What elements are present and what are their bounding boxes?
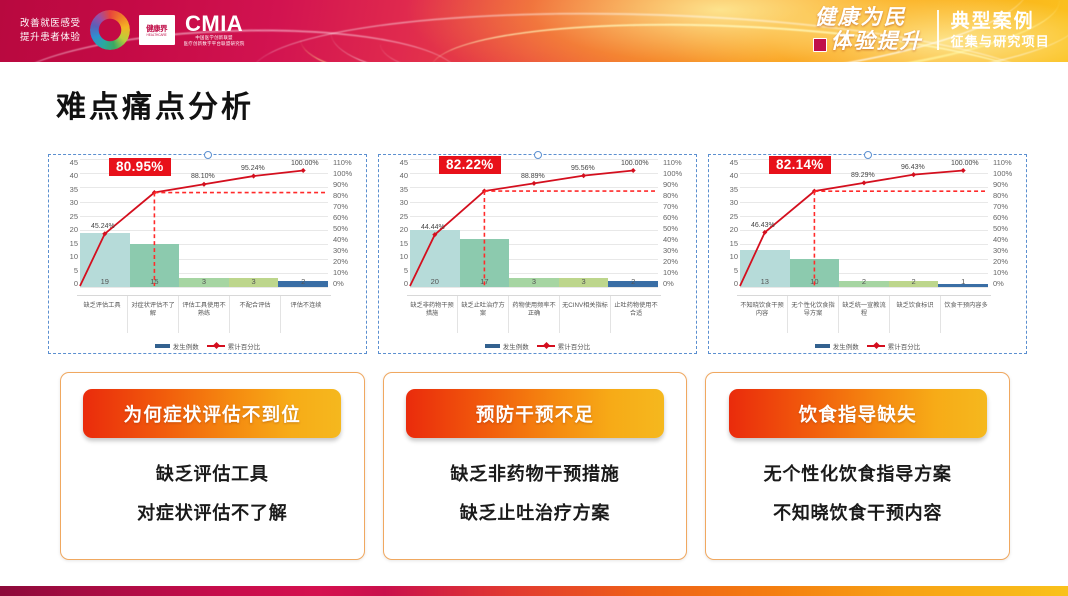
- pareto-chart-3[interactable]: 454035302520151050110%100%90%80%70%60%50…: [708, 154, 1027, 354]
- card-body-line: 缺乏评估工具: [156, 460, 269, 486]
- x-axis-tick-label: 缺乏非药物干预措施: [407, 296, 458, 333]
- y-axis-right-tick: 80%: [333, 192, 348, 199]
- y-axis-left-tick: 40: [730, 172, 738, 179]
- y-axis-left-tick: 25: [70, 213, 78, 220]
- y-axis-left-tick: 30: [730, 199, 738, 206]
- y-axis-right-tick: 30%: [663, 247, 678, 254]
- legend-label: 累计百分比: [228, 341, 261, 351]
- legend-item[interactable]: 累计百分比: [867, 341, 921, 351]
- pareto-threshold-callout: 80.95%: [109, 158, 171, 176]
- legend-line-swatch-icon: [867, 342, 885, 350]
- summary-card-row: 为何症状评估不到位缺乏评估工具对症状评估不了解预防干预不足缺乏非药物干预措施缺乏…: [60, 372, 1010, 560]
- y-axis-right-tick: 40%: [993, 236, 1008, 243]
- cumulative-point-label: 88.10%: [191, 173, 215, 180]
- y-axis-left-tick: 40: [70, 172, 78, 179]
- x-axis-tick-label: 不知晓饮食干预内容: [737, 296, 788, 333]
- y-axis-right-tick: 70%: [663, 203, 678, 210]
- x-axis-tick-label: 缺乏饮食标识: [890, 296, 941, 333]
- card-body-line: 对症状评估不了解: [137, 499, 287, 525]
- y-axis-left-tick: 15: [730, 240, 738, 247]
- pareto-threshold-callout: 82.22%: [439, 156, 501, 174]
- y-axis-right-tick: 10%: [993, 269, 1008, 276]
- y-axis-right: 110%100%90%80%70%60%50%40%30%20%10%0%: [990, 159, 1022, 287]
- rotate-handle-icon[interactable]: [204, 151, 212, 159]
- y-axis-left-tick: 20: [70, 226, 78, 233]
- cumulative-point-label: 46.43%: [751, 222, 775, 229]
- y-axis-right-tick: 20%: [663, 258, 678, 265]
- x-axis: 缺乏非药物干预措施缺乏止吐治疗方案药物使用频率不正确无CINV相关指标止吐药物使…: [407, 295, 661, 333]
- project-line-1: 典型案例: [951, 11, 1050, 32]
- legend-line-swatch-icon: [537, 342, 555, 350]
- y-axis-left-tick: 15: [70, 240, 78, 247]
- chc-logo-line-1: CHINESE: [102, 23, 118, 27]
- legend-line-swatch-icon: [207, 342, 225, 350]
- x-axis-tick-label: 不配合评估: [230, 296, 281, 333]
- y-axis-left-tick: 0: [404, 280, 408, 287]
- y-axis-right-tick: 0%: [333, 280, 344, 287]
- y-axis-right-tick: 60%: [333, 214, 348, 221]
- legend-item[interactable]: 累计百分比: [207, 341, 261, 351]
- brand-calligraphy: 健康为民 体验提升: [815, 6, 925, 53]
- brand-line-2: 体验提升: [815, 30, 923, 53]
- card-title-pill: 预防干预不足: [406, 389, 664, 438]
- cumulative-point-label: 44.44%: [421, 224, 445, 231]
- slide: 改善就医感受 提升患者体验 CHINESE HOSPITAL CONTEST 健…: [0, 0, 1068, 596]
- legend-item[interactable]: 累计百分比: [537, 341, 591, 351]
- card-title-pill: 为何症状评估不到位: [83, 389, 341, 438]
- y-axis-right-tick: 10%: [663, 269, 678, 276]
- x-axis-tick-label: 止吐药物使用不合适: [611, 296, 661, 333]
- cmia-logo-icon: CMIA 中国医学创新联盟 医疗创新数字平台联盟研究院: [184, 13, 245, 47]
- chart-legend: 发生例数累计百分比: [49, 341, 366, 351]
- y-axis-right-tick: 0%: [663, 280, 674, 287]
- y-axis-right-tick: 50%: [333, 225, 348, 232]
- chart-plot-area: 454035302520151050110%100%90%80%70%60%50…: [52, 159, 363, 299]
- y-axis-left-tick: 25: [400, 213, 408, 220]
- y-axis-right-tick: 0%: [993, 280, 1004, 287]
- y-axis-right-tick: 60%: [993, 214, 1008, 221]
- card-body: 缺乏非药物干预措施缺乏止吐治疗方案: [450, 460, 619, 525]
- y-axis-left-tick: 45: [400, 159, 408, 166]
- y-axis-left-tick: 30: [400, 199, 408, 206]
- slogan-line-2: 提升患者体验: [20, 32, 81, 43]
- card-body-line: 缺乏非药物干预措施: [450, 460, 619, 486]
- y-axis-left-tick: 25: [730, 213, 738, 220]
- rotate-handle-icon[interactable]: [534, 151, 542, 159]
- cumulative-point-label: 95.56%: [571, 165, 595, 172]
- x-axis: 不知晓饮食干预内容无个性化饮食指导方案缺乏统一宣教流程缺乏饮食标识饮食干预内容多: [737, 295, 991, 333]
- summary-card-1[interactable]: 为何症状评估不到位缺乏评估工具对症状评估不了解: [60, 372, 365, 560]
- y-axis-right-tick: 30%: [333, 247, 348, 254]
- y-axis-right-tick: 90%: [333, 181, 348, 188]
- y-axis-right-tick: 30%: [993, 247, 1008, 254]
- chc-logo-line-2: HOSPITAL: [101, 28, 118, 32]
- y-axis-right-tick: 70%: [333, 203, 348, 210]
- summary-card-3[interactable]: 饮食指导缺失无个性化饮食指导方案不知晓饮食干预内容: [705, 372, 1010, 560]
- header-brand-group: 健康为民 体验提升 典型案例 征集与研究项目: [815, 6, 1050, 53]
- y-axis-left-tick: 10: [400, 253, 408, 260]
- pareto-chart-1[interactable]: 454035302520151050110%100%90%80%70%60%50…: [48, 154, 367, 354]
- cmia-logo-subtext-2: 医疗创新数字平台联盟研究院: [184, 41, 245, 47]
- chart-plot-area: 454035302520151050110%100%90%80%70%60%50…: [382, 159, 693, 299]
- y-axis-left-tick: 0: [734, 280, 738, 287]
- x-axis-tick-label: 对症状评估不了解: [128, 296, 179, 333]
- card-title-text: 预防干预不足: [476, 401, 594, 427]
- slide-header-banner: 改善就医感受 提升患者体验 CHINESE HOSPITAL CONTEST 健…: [0, 0, 1068, 62]
- y-axis-left-tick: 10: [730, 253, 738, 260]
- pareto-threshold-callout: 82.14%: [769, 156, 831, 174]
- y-axis-left-tick: 45: [730, 159, 738, 166]
- x-axis-tick-label: 药物使用频率不正确: [509, 296, 560, 333]
- y-axis-left: 454035302520151050: [714, 159, 738, 287]
- card-title-pill: 饮食指导缺失: [729, 389, 987, 438]
- y-axis-right-tick: 20%: [993, 258, 1008, 265]
- y-axis-right-tick: 110%: [333, 159, 352, 166]
- x-axis-tick-label: 无个性化饮食指导方案: [788, 296, 839, 333]
- header-logo-group: 改善就医感受 提升患者体验 CHINESE HOSPITAL CONTEST 健…: [20, 10, 245, 50]
- y-axis-left-tick: 20: [730, 226, 738, 233]
- y-axis-left-tick: 45: [70, 159, 78, 166]
- y-axis-right-tick: 80%: [663, 192, 678, 199]
- y-axis-left-tick: 0: [74, 280, 78, 287]
- brand-line-1: 健康为民: [815, 6, 923, 29]
- legend-label: 发生例数: [173, 341, 199, 351]
- y-axis-right-tick: 10%: [333, 269, 348, 276]
- legend-item[interactable]: 发生例数: [155, 341, 199, 351]
- cmia-logo-text: CMIA: [185, 13, 243, 35]
- y-axis-left-tick: 40: [400, 172, 408, 179]
- cumulative-point-label: 96.43%: [901, 164, 925, 171]
- x-axis-tick-label: 缺乏评估工具: [77, 296, 128, 333]
- x-axis-tick-label: 缺乏止吐治疗方案: [458, 296, 509, 333]
- card-body-line: 不知晓饮食干预内容: [773, 499, 942, 525]
- y-axis-right: 110%100%90%80%70%60%50%40%30%20%10%0%: [330, 159, 362, 287]
- y-axis-left-tick: 10: [70, 253, 78, 260]
- x-axis-tick-label: 评估工具使用不熟练: [179, 296, 230, 333]
- jkj-logo-text: 健康界: [146, 24, 167, 33]
- y-axis-right-tick: 110%: [993, 159, 1012, 166]
- header-divider: [937, 10, 939, 50]
- cumulative-point-label: 45.24%: [91, 223, 115, 230]
- summary-card-2[interactable]: 预防干预不足缺乏非药物干预措施缺乏止吐治疗方案: [383, 372, 688, 560]
- legend-item[interactable]: 发生例数: [815, 341, 859, 351]
- cumulative-point-label: 100.00%: [621, 160, 649, 167]
- chart-legend: 发生例数累计百分比: [379, 341, 696, 351]
- y-axis-right-tick: 90%: [993, 181, 1008, 188]
- card-body: 无个性化饮食指导方案不知晓饮食干预内容: [764, 460, 952, 525]
- cumulative-point-label: 88.89%: [521, 173, 545, 180]
- chart-legend: 发生例数累计百分比: [709, 341, 1026, 351]
- jiankangjie-logo-icon: 健康界 HEALTHCARE: [139, 15, 175, 45]
- pareto-chart-2[interactable]: 454035302520151050110%100%90%80%70%60%50…: [378, 154, 697, 354]
- pareto-chart-row: 454035302520151050110%100%90%80%70%60%50…: [48, 154, 1028, 354]
- y-axis-left-tick: 5: [404, 267, 408, 274]
- chinese-hospital-contest-logo-icon: CHINESE HOSPITAL CONTEST: [90, 10, 130, 50]
- y-axis-left: 454035302520151050: [54, 159, 78, 287]
- project-line-2: 征集与研究项目: [951, 34, 1050, 49]
- chart-plot-area: 454035302520151050110%100%90%80%70%60%50…: [712, 159, 1023, 299]
- x-axis-tick-label: 评估不连续: [281, 296, 331, 333]
- y-axis-right-tick: 40%: [333, 236, 348, 243]
- x-axis: 缺乏评估工具对症状评估不了解评估工具使用不熟练不配合评估评估不连续: [77, 295, 331, 333]
- y-axis-right-tick: 50%: [993, 225, 1008, 232]
- y-axis-left-tick: 35: [400, 186, 408, 193]
- y-axis-right-tick: 80%: [993, 192, 1008, 199]
- y-axis-left-tick: 35: [70, 186, 78, 193]
- y-axis-right-tick: 50%: [663, 225, 678, 232]
- cumulative-point-label: 100.00%: [951, 160, 979, 167]
- card-body-line: 无个性化饮食指导方案: [764, 460, 952, 486]
- y-axis-left-tick: 35: [730, 186, 738, 193]
- cumulative-point-label: 95.24%: [241, 165, 265, 172]
- x-axis-tick-label: 无CINV相关指标: [560, 296, 611, 333]
- cumulative-point-label: 89.29%: [851, 172, 875, 179]
- y-axis-right-tick: 100%: [333, 170, 352, 177]
- y-axis-right: 110%100%90%80%70%60%50%40%30%20%10%0%: [660, 159, 692, 287]
- y-axis-right-tick: 70%: [993, 203, 1008, 210]
- y-axis-left: 454035302520151050: [384, 159, 408, 287]
- y-axis-right-tick: 90%: [663, 181, 678, 188]
- card-title-text: 饮食指导缺失: [799, 401, 917, 427]
- x-axis-tick-label: 缺乏统一宣教流程: [839, 296, 890, 333]
- legend-bar-swatch-icon: [815, 344, 830, 348]
- card-body-line: 缺乏止吐治疗方案: [460, 499, 610, 525]
- rotate-handle-icon[interactable]: [864, 151, 872, 159]
- y-axis-left-tick: 5: [734, 267, 738, 274]
- y-axis-left-tick: 5: [74, 267, 78, 274]
- header-slogan: 改善就医感受 提升患者体验: [20, 18, 81, 43]
- legend-item[interactable]: 发生例数: [485, 341, 529, 351]
- y-axis-right-tick: 100%: [993, 170, 1012, 177]
- x-axis-tick-label: 饮食干预内容多: [941, 296, 991, 333]
- y-axis-right-tick: 110%: [663, 159, 682, 166]
- cumulative-point-label: 100.00%: [291, 160, 319, 167]
- legend-bar-swatch-icon: [485, 344, 500, 348]
- y-axis-right-tick: 20%: [333, 258, 348, 265]
- slogan-line-1: 改善就医感受: [20, 18, 81, 29]
- y-axis-right-tick: 100%: [663, 170, 682, 177]
- legend-label: 发生例数: [833, 341, 859, 351]
- y-axis-right-tick: 40%: [663, 236, 678, 243]
- y-axis-left-tick: 20: [400, 226, 408, 233]
- seal-stamp-icon: [813, 38, 827, 52]
- y-axis-left-tick: 15: [400, 240, 408, 247]
- y-axis-right-tick: 60%: [663, 214, 678, 221]
- page-title: 难点痛点分析: [56, 82, 254, 126]
- legend-label: 累计百分比: [558, 341, 591, 351]
- header-project-title: 典型案例 征集与研究项目: [951, 11, 1050, 49]
- legend-label: 累计百分比: [888, 341, 921, 351]
- chc-logo-line-3: CONTEST: [101, 33, 118, 37]
- legend-label: 发生例数: [503, 341, 529, 351]
- legend-bar-swatch-icon: [155, 344, 170, 348]
- card-title-text: 为何症状评估不到位: [124, 401, 301, 427]
- card-body: 缺乏评估工具对症状评估不了解: [137, 460, 287, 525]
- y-axis-left-tick: 30: [70, 199, 78, 206]
- slide-footer-bar: [0, 586, 1068, 596]
- jkj-logo-subtext: HEALTHCARE: [147, 33, 167, 37]
